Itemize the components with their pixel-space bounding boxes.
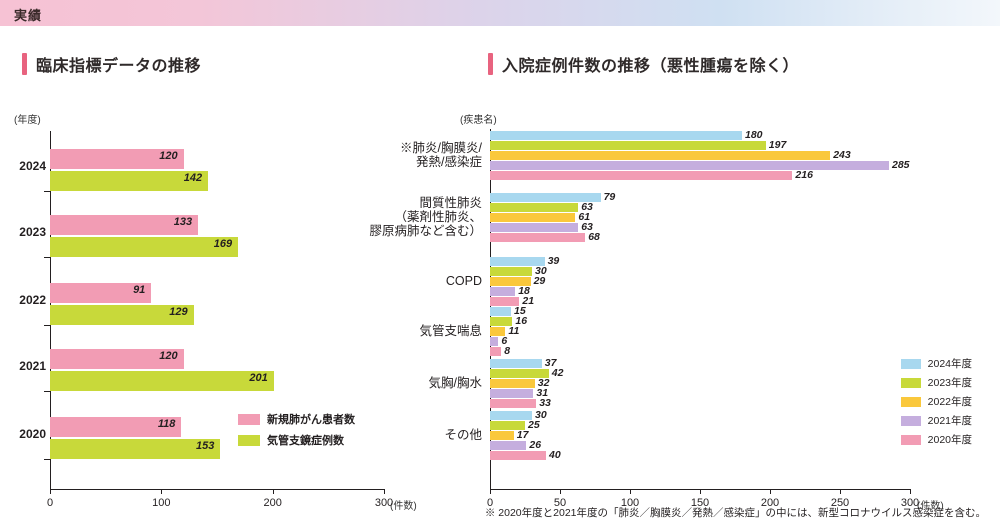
right-chart: (疾患名) 050100150200250300 (件数) ※肺炎/胸膜炎/発熱…	[480, 111, 1000, 511]
bar-value: 40	[549, 449, 561, 461]
bar-value: 39	[548, 255, 560, 267]
axis-tick	[273, 489, 274, 494]
legend-swatch	[901, 416, 921, 426]
bar-value: 29	[534, 275, 546, 287]
legend-swatch	[901, 359, 921, 369]
bar: 133	[50, 215, 198, 235]
category-label: 間質性肺炎（薬剤性肺炎、膠原病肺など含む）	[332, 196, 482, 238]
bar-value: 216	[795, 169, 813, 181]
year-label: 2021	[4, 359, 46, 373]
legend-label: 2023年度	[928, 375, 972, 390]
legend-swatch	[238, 414, 260, 425]
bar-value: 197	[769, 139, 787, 151]
bar: 15	[490, 307, 511, 316]
bar-value: 285	[892, 159, 910, 171]
bar: 37	[490, 359, 542, 368]
bar-value: 17	[517, 429, 529, 441]
bar: 243	[490, 151, 830, 160]
bar: 63	[490, 223, 578, 232]
bar-value: 33	[539, 397, 551, 409]
legend-label: 2024年度	[928, 356, 972, 371]
bar: 216	[490, 171, 792, 180]
legend-swatch	[901, 378, 921, 388]
bar-value: 120	[159, 150, 177, 162]
bar: 120	[50, 349, 184, 369]
axis-tick-label: 100	[152, 497, 170, 509]
category-label-line: 気管支喘息	[332, 324, 482, 338]
bar-value: 26	[529, 439, 541, 451]
year-axis-tick	[44, 191, 50, 192]
legend-label: 新規肺がん患者数	[267, 411, 355, 427]
axis-tick-label: 200	[263, 497, 281, 509]
bar-value: 180	[745, 129, 763, 141]
year-axis-tick	[44, 391, 50, 392]
bar: 31	[490, 389, 533, 398]
year-axis-tick	[44, 459, 50, 460]
bar: 63	[490, 203, 578, 212]
left-chart: (年度) 0100200300 (件数) 2024120142202313316…	[0, 111, 480, 511]
legend-item: 2020年度	[901, 432, 972, 447]
year-label: 2022	[4, 293, 46, 307]
bar: 17	[490, 431, 514, 440]
right-legend: 2024年度2023年度2022年度2021年度2020年度	[901, 356, 972, 451]
legend-item: 2023年度	[901, 375, 972, 390]
bar: 153	[50, 439, 220, 459]
title-accent-bar	[488, 53, 493, 75]
right-plot-area: ※肺炎/胸膜炎/発熱/感染症180197243285216間質性肺炎（薬剤性肺炎…	[480, 111, 990, 511]
axis-tick	[161, 489, 162, 494]
page-banner: 実績	[0, 0, 1000, 26]
right-panel-footnote: ※ 2020年度と2021年度の「肺炎／胸膜炎／発熱／感染症」の中には、新型コロ…	[485, 505, 986, 520]
legend-label: 2022年度	[928, 394, 972, 409]
right-panel-title: 入院症例件数の推移（悪性腫瘍を除く）	[488, 52, 799, 76]
title-accent-bar	[22, 53, 27, 75]
legend-label: 2021年度	[928, 413, 972, 428]
legend-item: 2022年度	[901, 394, 972, 409]
category-label: 気管支喘息	[332, 324, 482, 338]
category-label-line: 発熱/感染症	[332, 155, 482, 169]
legend-swatch	[238, 435, 260, 446]
bar: 61	[490, 213, 575, 222]
year-label: 2024	[4, 159, 46, 173]
bar: 33	[490, 399, 536, 408]
bar: 32	[490, 379, 535, 388]
bar: 6	[490, 337, 498, 346]
bar-value: 153	[196, 440, 214, 452]
bar: 201	[50, 371, 274, 391]
legend-swatch	[901, 397, 921, 407]
category-label: COPD	[332, 274, 482, 288]
left-panel-title: 臨床指標データの推移	[22, 52, 201, 76]
axis-tick-label: 0	[47, 497, 53, 509]
bar: 142	[50, 171, 208, 191]
bar-value: 169	[214, 238, 232, 250]
left-panel-title-text: 臨床指標データの推移	[36, 52, 201, 76]
legend-item: 2024年度	[901, 356, 972, 371]
axis-tick	[384, 489, 385, 494]
bar: 180	[490, 131, 742, 140]
category-label: 気胸/胸水	[332, 376, 482, 390]
bar: 18	[490, 287, 515, 296]
page-title: 実績	[14, 5, 42, 24]
left-x-axis	[50, 489, 384, 490]
bar-value: 133	[174, 216, 192, 228]
bar: 129	[50, 305, 194, 325]
bar-value: 68	[588, 231, 600, 243]
legend-item: 2021年度	[901, 413, 972, 428]
category-label-line: 間質性肺炎	[332, 196, 482, 210]
bar: 40	[490, 451, 546, 460]
category-label-line: COPD	[332, 274, 482, 288]
bar: 91	[50, 283, 151, 303]
bar-value: 129	[169, 306, 187, 318]
legend-swatch	[901, 435, 921, 445]
bar: 120	[50, 149, 184, 169]
bar: 169	[50, 237, 238, 257]
category-label-line: 気胸/胸水	[332, 376, 482, 390]
bar-value: 11	[508, 325, 519, 337]
bar: 197	[490, 141, 766, 150]
bar-value: 8	[504, 345, 510, 357]
bar-value: 142	[184, 172, 202, 184]
bar: 30	[490, 411, 532, 420]
year-label: 2023	[4, 225, 46, 239]
bar: 8	[490, 347, 501, 356]
bar-value: 118	[158, 418, 176, 430]
bar-value: 42	[552, 367, 564, 379]
category-label-line: （薬剤性肺炎、	[332, 210, 482, 224]
bar-value: 120	[159, 350, 177, 362]
bar: 285	[490, 161, 889, 170]
bar: 30	[490, 267, 532, 276]
category-label: その他	[332, 428, 482, 442]
bar: 118	[50, 417, 181, 437]
category-label: ※肺炎/胸膜炎/発熱/感染症	[332, 141, 482, 169]
legend-label: 2020年度	[928, 432, 972, 447]
bar: 68	[490, 233, 585, 242]
category-label-line: ※肺炎/胸膜炎/	[332, 141, 482, 155]
left-year-unit: (年度)	[14, 111, 41, 126]
right-panel-title-text: 入院症例件数の推移（悪性腫瘍を除く）	[502, 52, 799, 76]
right-panel: 入院症例件数の推移（悪性腫瘍を除く） (疾患名) 050100150200250…	[480, 26, 1000, 528]
year-axis-tick	[44, 257, 50, 258]
legend-item: 新規肺がん患者数	[238, 411, 355, 427]
year-label: 2020	[4, 427, 46, 441]
year-axis-tick	[44, 325, 50, 326]
bar-value: 243	[833, 149, 851, 161]
axis-tick	[50, 489, 51, 494]
bar: 26	[490, 441, 526, 450]
left-axis-unit: (件数)	[390, 497, 417, 512]
bar-value: 91	[133, 284, 145, 296]
bar-value: 201	[249, 372, 267, 384]
bar-value: 79	[604, 191, 616, 203]
category-label-line: その他	[332, 428, 482, 442]
category-label-line: 膠原病肺など含む）	[332, 224, 482, 238]
bar-value: 25	[528, 419, 540, 431]
